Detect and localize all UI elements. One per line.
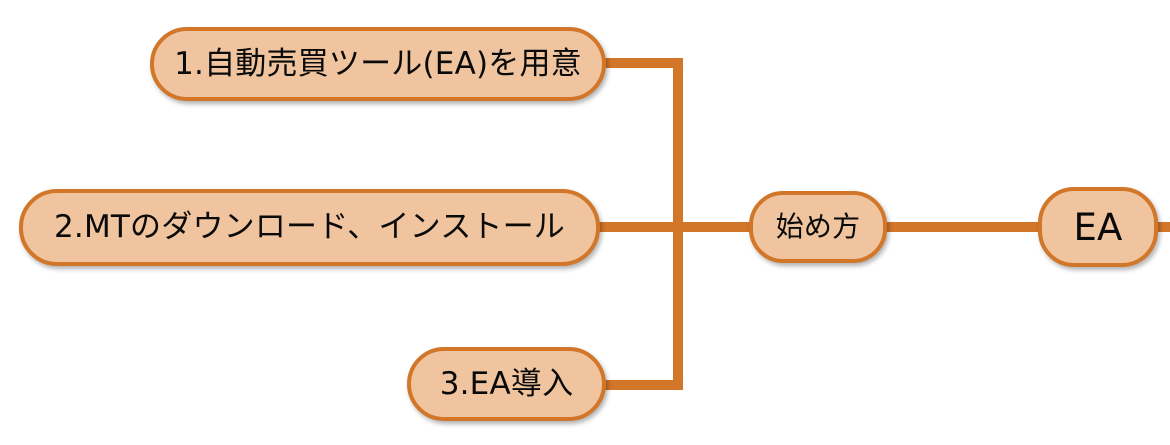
node-center-topic-label: 始め方 [776,213,861,241]
connector-step1 [601,63,678,227]
connector-step3 [601,227,678,385]
node-step-1-label: 1.自動売買ツール(EA)を用意 [174,49,582,80]
node-step-2-label: 2.MTのダウンロード、インストール [54,212,565,243]
mindmap-canvas: 1.自動売買ツール(EA)を用意 2.MTのダウンロード、インストール 3.EA… [0,0,1170,445]
node-step-3[interactable]: 3.EA導入 [407,347,606,421]
node-step-2[interactable]: 2.MTのダウンロード、インストール [19,189,600,266]
node-root-topic-label: EA [1073,209,1122,246]
node-root-topic[interactable]: EA [1038,187,1158,267]
node-step-3-label: 3.EA導入 [440,369,574,400]
node-center-topic[interactable]: 始め方 [749,191,887,263]
node-step-1[interactable]: 1.自動売買ツール(EA)を用意 [150,27,606,101]
